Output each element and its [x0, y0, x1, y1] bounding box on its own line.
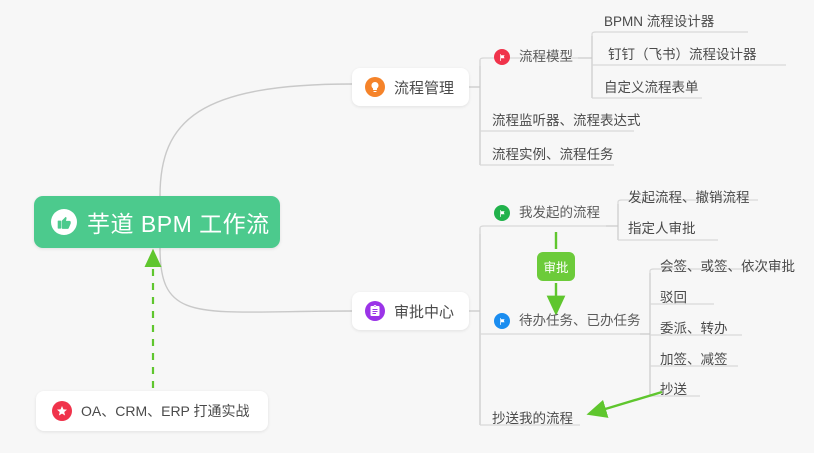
leaf-process-model-label: 流程模型 — [519, 50, 573, 64]
root-node[interactable]: 芋道 BPM 工作流 — [34, 196, 280, 248]
integration-node[interactable]: OA、CRM、ERP 打通实战 — [36, 391, 268, 431]
leaf-add-remove-sign[interactable]: 加签、减签 — [660, 347, 728, 373]
annotation-badge-approve-label: 审批 — [543, 257, 568, 276]
leaf-my-started-process[interactable]: 我发起的流程 — [494, 200, 600, 226]
leaf-cc-label: 抄送 — [660, 383, 687, 397]
integration-node-label: OA、CRM、ERP 打通实战 — [81, 401, 250, 421]
leaf-cc-to-me[interactable]: 抄送我的流程 — [492, 406, 573, 432]
annotation-badge-approve: 审批 — [537, 252, 575, 281]
branch-node-approval-center-label: 审批中心 — [394, 301, 454, 322]
leaf-add-remove-sign-label: 加签、减签 — [660, 353, 728, 367]
leaf-instance-task-label: 流程实例、流程任务 — [492, 148, 614, 162]
flag-icon — [494, 49, 510, 65]
leaf-cc-to-me-label: 抄送我的流程 — [492, 412, 573, 426]
leaf-my-started-process-label: 我发起的流程 — [519, 206, 600, 220]
leaf-instance-task[interactable]: 流程实例、流程任务 — [492, 142, 614, 168]
branch-node-process-mgmt[interactable]: 流程管理 — [352, 68, 469, 106]
thumbs-up-icon — [51, 209, 77, 235]
branch-node-approval-center[interactable]: 审批中心 — [352, 292, 469, 330]
connector-root-to-process-mgmt — [160, 84, 352, 196]
connector-root-to-approval-center — [160, 248, 352, 312]
mindmap-canvas: 芋道 BPM 工作流 流程管理 流程模型 BPMN 流程设计器 钉钉（飞书）流程… — [0, 0, 814, 453]
leaf-assignee-approval[interactable]: 指定人审批 — [628, 216, 696, 242]
branch-node-process-mgmt-label: 流程管理 — [394, 77, 454, 98]
leaf-custom-process-form-label: 自定义流程表单 — [604, 81, 699, 95]
flag-icon — [494, 205, 510, 221]
leaf-process-model[interactable]: 流程模型 — [494, 44, 573, 70]
lightbulb-icon — [365, 77, 385, 97]
root-node-label: 芋道 BPM 工作流 — [87, 205, 270, 239]
connector-my-started-underline — [480, 226, 606, 234]
arrow-cc-to-process — [592, 392, 662, 413]
leaf-bpmn-designer[interactable]: BPMN 流程设计器 — [604, 9, 714, 35]
leaf-start-cancel-process-label: 发起流程、撤销流程 — [628, 191, 750, 205]
leaf-dingtalk-feishu-designer-label: 钉钉（飞书）流程设计器 — [608, 48, 757, 62]
leaf-dingtalk-feishu-designer[interactable]: 钉钉（飞书）流程设计器 — [608, 42, 757, 68]
flag-icon — [494, 313, 510, 329]
star-icon — [52, 401, 72, 421]
leaf-delegate-transfer[interactable]: 委派、转办 — [660, 316, 728, 342]
leaf-cc[interactable]: 抄送 — [660, 377, 687, 403]
leaf-reject[interactable]: 驳回 — [660, 285, 687, 311]
leaf-listener-expression[interactable]: 流程监听器、流程表达式 — [492, 108, 641, 134]
leaf-countersign-label: 会签、或签、依次审批 — [660, 260, 795, 274]
leaf-todo-done-tasks-label: 待办任务、已办任务 — [519, 314, 641, 328]
leaf-listener-expression-label: 流程监听器、流程表达式 — [492, 114, 641, 128]
leaf-todo-done-tasks[interactable]: 待办任务、已办任务 — [494, 308, 641, 334]
leaf-bpmn-designer-label: BPMN 流程设计器 — [604, 15, 714, 29]
leaf-countersign[interactable]: 会签、或签、依次审批 — [660, 254, 795, 280]
leaf-custom-process-form[interactable]: 自定义流程表单 — [604, 75, 699, 101]
leaf-start-cancel-process[interactable]: 发起流程、撤销流程 — [628, 185, 750, 211]
clipboard-icon — [365, 301, 385, 321]
leaf-reject-label: 驳回 — [660, 291, 687, 305]
leaf-delegate-transfer-label: 委派、转办 — [660, 322, 728, 336]
leaf-assignee-approval-label: 指定人审批 — [628, 222, 696, 236]
